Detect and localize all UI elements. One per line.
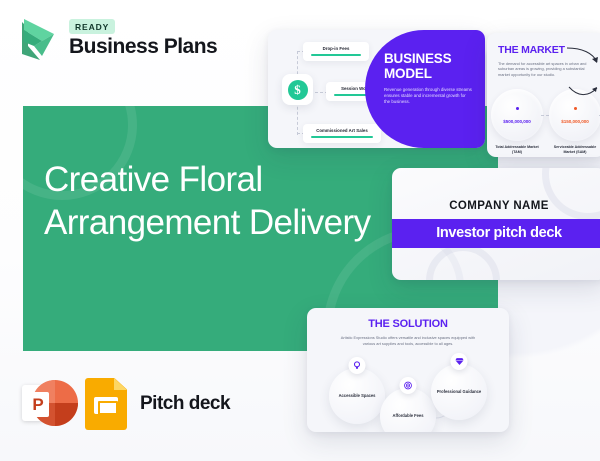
brand-text: READY Business Plans bbox=[69, 19, 217, 57]
preview-canvas: READY Business Plans Creative Floral Arr… bbox=[0, 0, 600, 461]
market-metric: $500,000,000 Total Addressable Market (T… bbox=[491, 89, 543, 154]
business-model-title: BUSINESS MODEL bbox=[384, 52, 474, 81]
solution-nodes: Accessible Spaces Affordable Fees bbox=[307, 360, 509, 432]
investor-subtitle: Investor pitch deck bbox=[436, 225, 562, 241]
solution-node-label: Professional Guidance bbox=[437, 389, 481, 394]
slide-card-solution[interactable]: THE SOLUTION Artistic Expressions Studio… bbox=[307, 308, 509, 432]
curved-arrow-icon bbox=[566, 46, 600, 66]
curved-arrow-icon bbox=[568, 84, 598, 98]
powerpoint-letter: P bbox=[27, 392, 49, 417]
business-model-item-label: Drop-in Fees bbox=[309, 46, 363, 51]
solution-node-label: Affordable Fees bbox=[393, 413, 424, 418]
dollar-sign-icon: $ bbox=[282, 74, 313, 105]
connector-line bbox=[541, 115, 549, 116]
target-icon bbox=[400, 377, 417, 394]
page-title: Creative Floral Arrangement Delivery bbox=[44, 158, 374, 244]
solution-node-label: Accessible Spaces bbox=[339, 393, 376, 398]
brand-header: READY Business Plans bbox=[18, 16, 217, 60]
business-model-body: Revenue generation through diverse strea… bbox=[384, 87, 472, 106]
market-metric-label: Serviceable Addressable Market (SAM) bbox=[549, 145, 600, 154]
metric-dot bbox=[516, 107, 519, 110]
investor-company-name: COMPANY NAME bbox=[449, 200, 549, 212]
business-model-panel: BUSINESS MODEL Revenue generation throug… bbox=[365, 30, 485, 148]
slide-card-investor-cover[interactable]: COMPANY NAME Investor pitch deck bbox=[392, 168, 600, 280]
google-slides-icon bbox=[85, 378, 127, 430]
market-metric-value: $150,000,000 bbox=[561, 119, 589, 124]
market-metric-value: $500,000,000 bbox=[503, 119, 531, 124]
lightbulb-icon bbox=[349, 357, 366, 374]
powerpoint-icon: P bbox=[22, 378, 74, 430]
solution-node: Accessible Spaces bbox=[329, 368, 385, 424]
formats-label: Pitch deck bbox=[140, 393, 230, 415]
green-play-arrow-logo bbox=[18, 16, 60, 60]
ready-badge: READY bbox=[69, 19, 115, 34]
diamond-icon bbox=[451, 353, 468, 370]
market-metric-label: Total Addressable Market (TAM) bbox=[491, 145, 543, 154]
market-metric: $150,000,000 Serviceable Addressable Mar… bbox=[549, 89, 600, 154]
investor-subtitle-bar: Investor pitch deck bbox=[392, 219, 600, 248]
business-model-item-label: Commissioned Art Sales bbox=[309, 128, 375, 133]
metric-dot bbox=[574, 107, 577, 110]
solution-node: Affordable Fees bbox=[380, 388, 436, 432]
market-metrics: $500,000,000 Total Addressable Market (T… bbox=[491, 89, 600, 154]
solution-node: Professional Guidance bbox=[431, 364, 487, 420]
solution-title: THE SOLUTION bbox=[317, 318, 499, 330]
business-model-item: Commissioned Art Sales bbox=[303, 124, 381, 143]
slide-card-business-model[interactable]: $ Drop-in Fees Session Workshops Commiss… bbox=[268, 30, 485, 148]
format-badges: P Pitch deck bbox=[22, 378, 230, 430]
business-model-item: Drop-in Fees bbox=[303, 42, 369, 61]
solution-body: Artistic Expressions Studio offers versa… bbox=[338, 335, 478, 346]
brand-name: Business Plans bbox=[69, 36, 217, 57]
